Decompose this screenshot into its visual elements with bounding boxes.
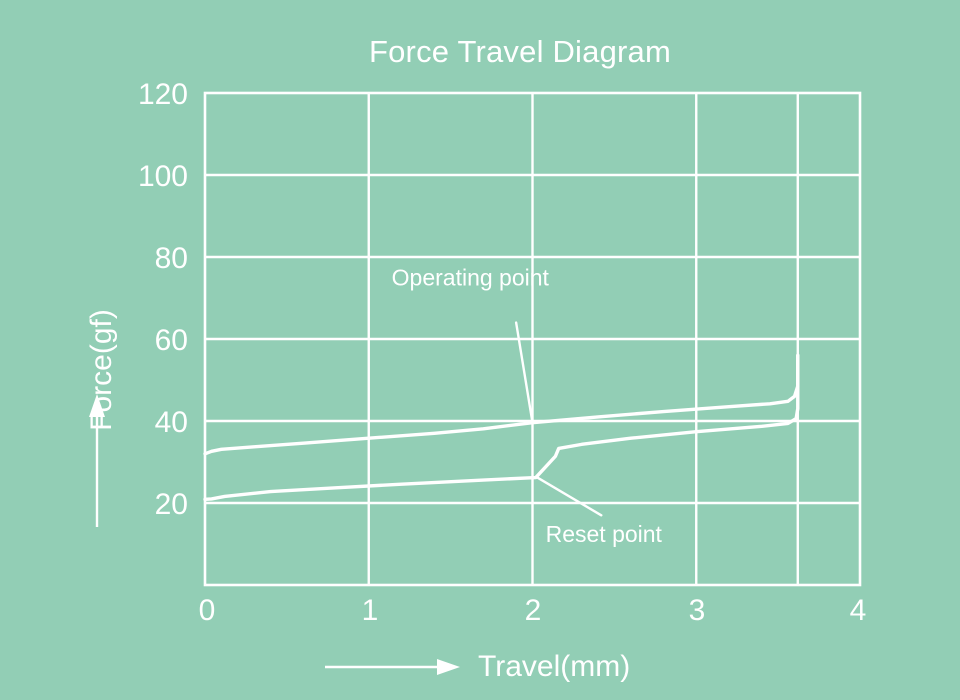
x-axis-title: Travel(mm) xyxy=(478,650,630,683)
y-axis-tick-labels: 120 100 80 60 40 20 xyxy=(138,78,188,521)
chart-title: Force Travel Diagram xyxy=(369,34,671,69)
y-tick-100: 100 xyxy=(138,160,188,193)
x-axis-arrow-head xyxy=(437,659,460,675)
y-axis-direction-arrow-icon xyxy=(89,394,105,527)
operating-point-annotation: Operating point xyxy=(392,265,550,423)
x-tick-2: 2 xyxy=(525,594,542,627)
y-tick-20: 20 xyxy=(155,488,188,521)
chart-svg: Force Travel Diagram 120 100 80 60 40 20 xyxy=(0,0,960,700)
press-curve xyxy=(205,355,798,453)
reset-point-label: Reset point xyxy=(546,521,663,547)
x-axis-tick-labels: 0 1 2 3 4 xyxy=(199,594,867,627)
reset-point-annotation: Reset point xyxy=(537,478,662,547)
y-tick-60: 60 xyxy=(155,324,188,357)
operating-point-label: Operating point xyxy=(392,265,550,291)
y-tick-120: 120 xyxy=(138,78,188,111)
x-tick-0: 0 xyxy=(199,594,216,627)
force-travel-chart-figure: Force Travel Diagram 120 100 80 60 40 20 xyxy=(0,0,960,700)
x-tick-3: 3 xyxy=(689,594,706,627)
x-tick-4: 4 xyxy=(850,594,867,627)
x-tick-1: 1 xyxy=(362,594,379,627)
y-tick-80: 80 xyxy=(155,242,188,275)
y-tick-40: 40 xyxy=(155,406,188,439)
reset-point-leader-line xyxy=(537,478,601,516)
x-axis-direction-arrow-icon xyxy=(325,659,460,675)
operating-point-leader-line xyxy=(516,323,532,423)
